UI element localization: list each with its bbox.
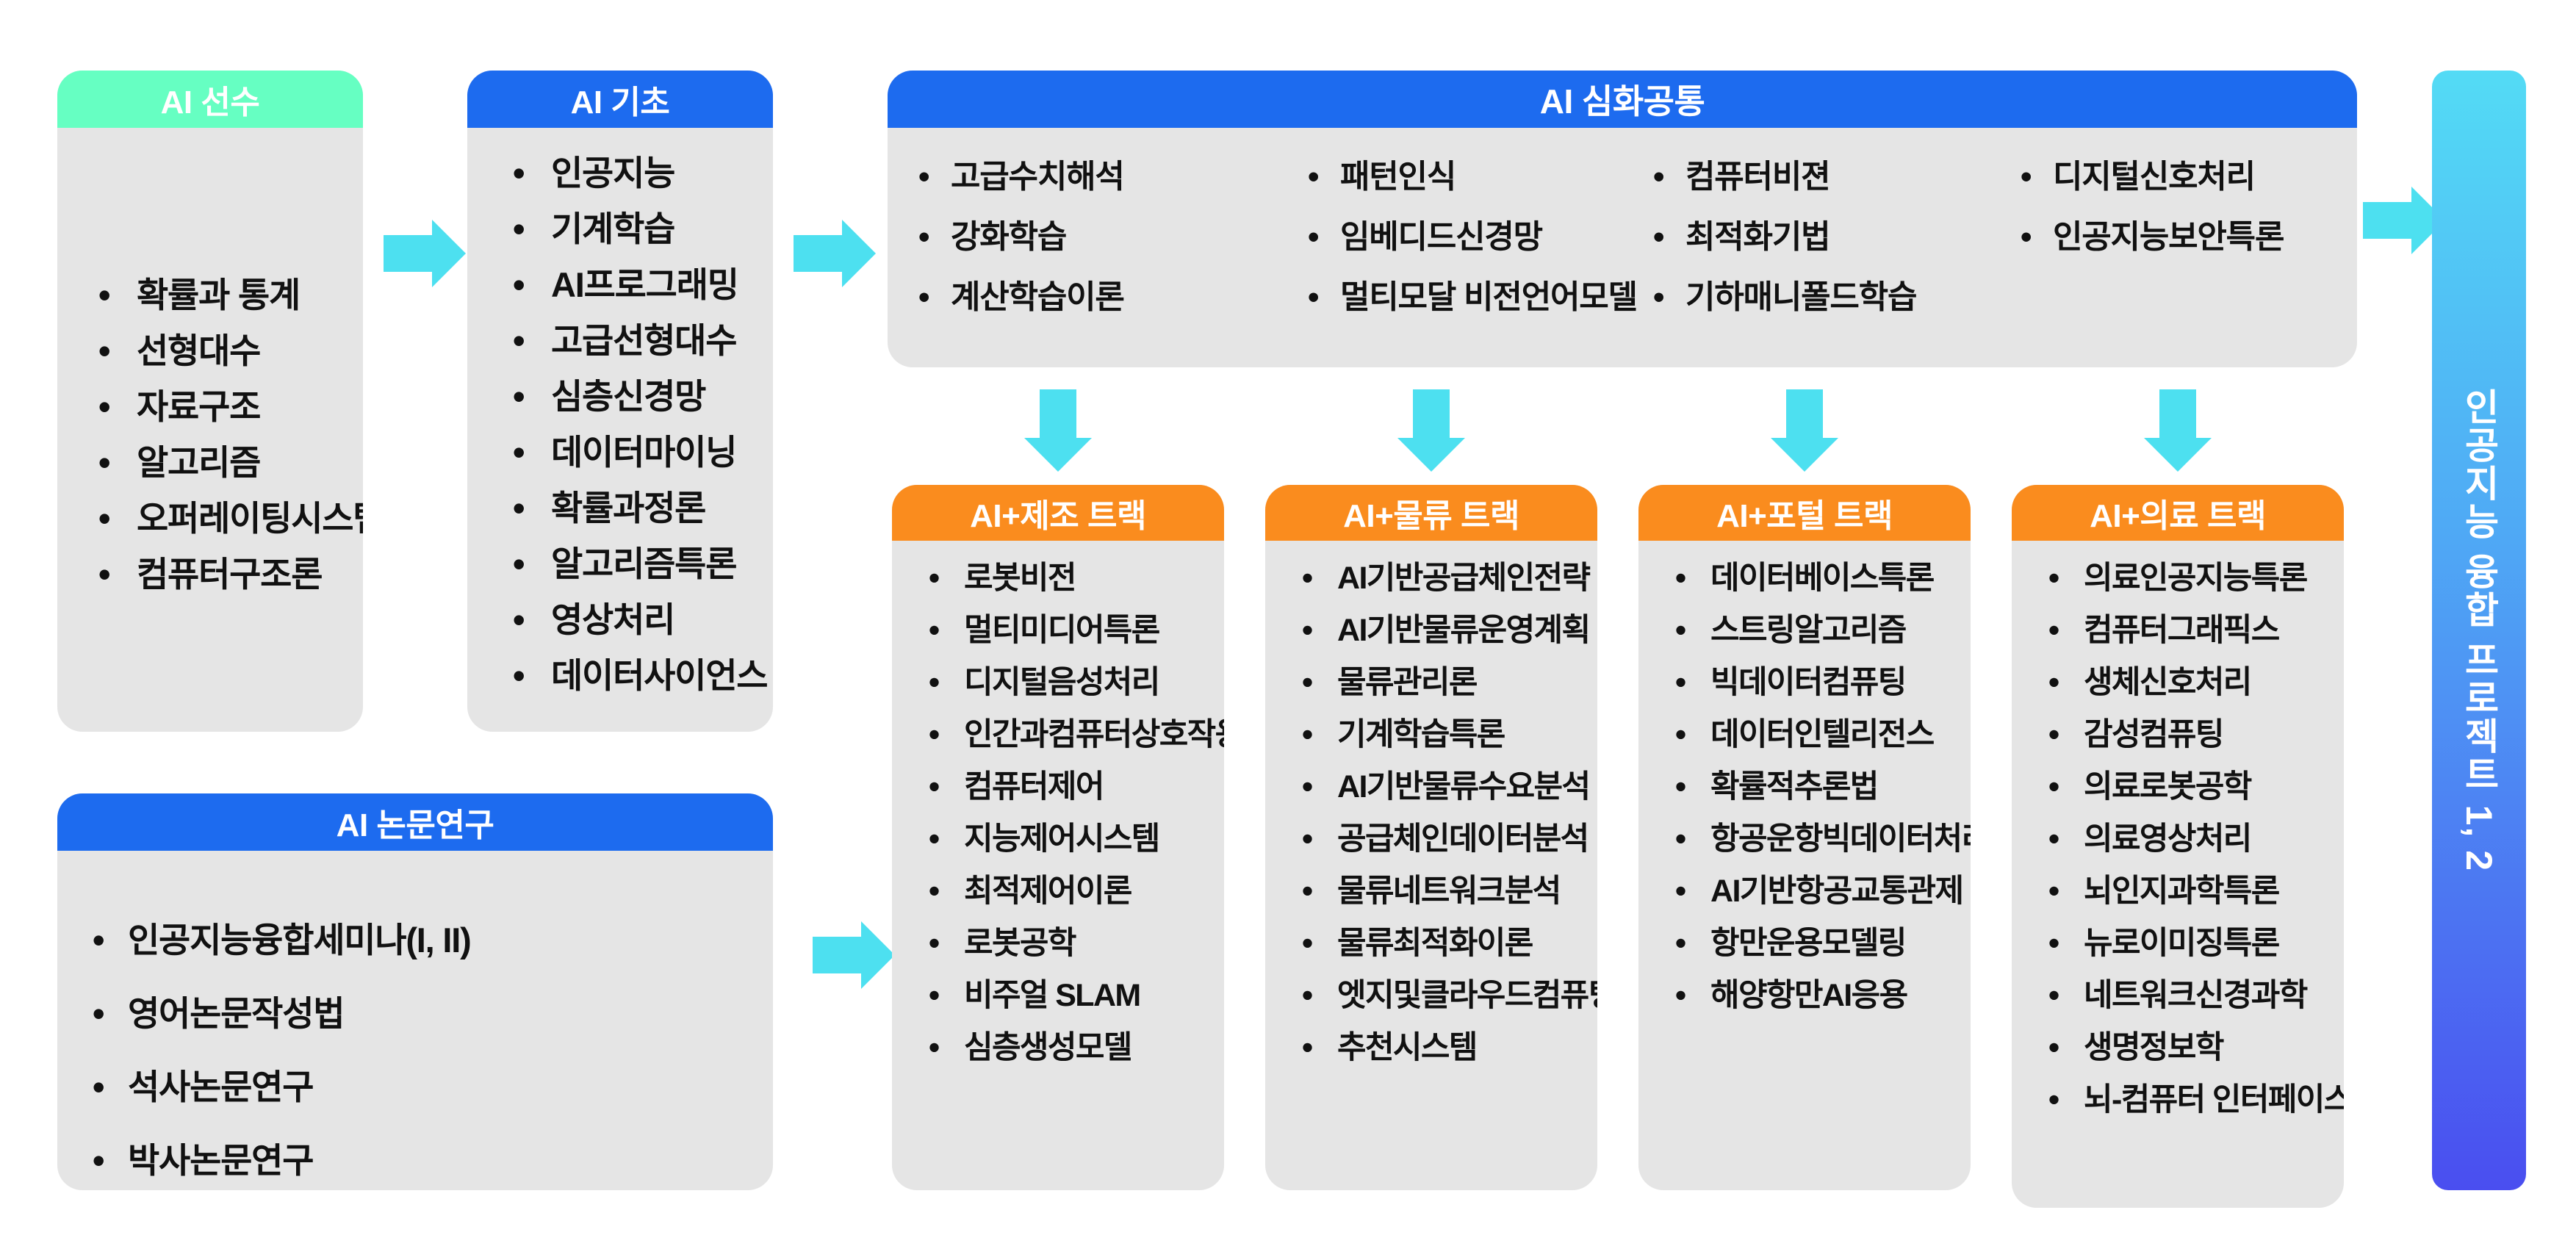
course-list-advanced-col-1: 고급수치해석 강화학습 계산학습이론 xyxy=(888,147,1277,367)
list-item: 데이터마이닝 xyxy=(513,425,767,480)
list-item: 지능제어시스템 xyxy=(929,813,1224,865)
list-item: 패턴인식 xyxy=(1308,147,1622,207)
card-track-portal: AI+포털 트랙 데이터베이스특론 스트링알고리즘 빅데이터컴퓨팅 데이터인텔리… xyxy=(1638,485,1971,1190)
card-ai-advanced-common: AI 심화공통 고급수치해석 강화학습 계산학습이론 패턴인식 임베디드신경망 … xyxy=(888,71,2357,367)
list-item: 심층신경망 xyxy=(513,369,767,425)
card-track-manufacturing: AI+제조 트랙 로봇비전 멀티미디어특론 디지털음성처리 인간과컴퓨터상호작용… xyxy=(892,485,1224,1190)
list-item: AI프로그래밍 xyxy=(513,257,767,313)
list-item: 알고리즘 xyxy=(98,435,363,491)
list-item: AI기반물류운영계획 xyxy=(1302,605,1597,657)
list-item: 뉴로이미징특론 xyxy=(2048,918,2344,970)
card-track-medical: AI+의료 트랙 의료인공지능특론 컴퓨터그래픽스 생체신호처리 감성컴퓨팅 의… xyxy=(2012,485,2344,1208)
course-list-advanced-col-2: 패턴인식 임베디드신경망 멀티모달 비전언어모델 xyxy=(1277,147,1622,367)
list-item: 감성컴퓨팅 xyxy=(2048,709,2344,761)
list-item: 심층생성모델 xyxy=(929,1022,1224,1074)
course-list-advanced-col-4: 디지털신호처리 인공지능보안특론 xyxy=(1990,147,2357,367)
card-title-ai-thesis: AI 논문연구 xyxy=(57,793,773,851)
list-item: 영상처리 xyxy=(513,592,767,648)
course-list-track-manufacturing: 로봇비전 멀티미디어특론 디지털음성처리 인간과컴퓨터상호작용 컴퓨터제어 지능… xyxy=(929,552,1224,1190)
list-item: 디지털음성처리 xyxy=(929,657,1224,709)
list-item: 공급체인데이터분석 xyxy=(1302,813,1597,865)
list-item: AI기반물류수요분석 xyxy=(1302,761,1597,813)
list-item: 기계학습 xyxy=(513,201,767,257)
list-item: 항만운용모델링 xyxy=(1675,918,1971,970)
list-item: 해양항만AI응용 xyxy=(1675,970,1971,1022)
list-item: 기계학습특론 xyxy=(1302,709,1597,761)
list-item: 물류네트워크분석 xyxy=(1302,865,1597,918)
card-ai-prereq: AI 선수 확률과 통계 선형대수 자료구조 알고리즘 오퍼레이팅시스템 컴퓨터… xyxy=(57,71,363,732)
list-item: 생명정보학 xyxy=(2048,1022,2344,1074)
list-item: 인공지능 xyxy=(513,145,767,201)
course-list-ai-thesis: 인공지능융합세미나(I, II) 영어논문작성법 석사논문연구 박사논문연구 xyxy=(93,904,471,1190)
list-item: 뇌-컴퓨터 인터페이스 xyxy=(2048,1074,2344,1126)
card-body-ai-prereq: 확률과 통계 선형대수 자료구조 알고리즘 오퍼레이팅시스템 컴퓨터구조론 xyxy=(57,128,363,732)
list-item: 의료영상처리 xyxy=(2048,813,2344,865)
list-item: 추천시스템 xyxy=(1302,1022,1597,1074)
list-item: 확률과 통계 xyxy=(98,267,363,323)
list-item: 컴퓨터비젼 xyxy=(1653,147,1990,207)
list-item: 기하매니폴드학습 xyxy=(1653,267,1990,328)
list-item: 자료구조 xyxy=(98,379,363,435)
list-item: 의료인공지능특론 xyxy=(2048,552,2344,605)
list-item: 인공지능보안특론 xyxy=(2021,207,2357,267)
list-item: 컴퓨터그래픽스 xyxy=(2048,605,2344,657)
card-body-ai-basic: 인공지능 기계학습 AI프로그래밍 고급선형대수 심층신경망 데이터마이닝 확률… xyxy=(467,128,773,732)
card-title-track-manufacturing: AI+제조 트랙 xyxy=(892,485,1224,541)
list-item: 컴퓨터제어 xyxy=(929,761,1224,813)
list-item: 알고리즘특론 xyxy=(513,536,767,592)
card-title-ai-prereq: AI 선수 xyxy=(57,71,363,128)
list-item: 데이터사이언스 xyxy=(513,648,767,704)
card-body-track-manufacturing: 로봇비전 멀티미디어특론 디지털음성처리 인간과컴퓨터상호작용 컴퓨터제어 지능… xyxy=(892,541,1224,1190)
list-item: 컴퓨터구조론 xyxy=(98,547,363,602)
list-item: 스트링알고리즘 xyxy=(1675,605,1971,657)
list-item: AI기반항공교통관제 xyxy=(1675,865,1971,918)
list-item: 확률적추론법 xyxy=(1675,761,1971,813)
list-item: 생체신호처리 xyxy=(2048,657,2344,709)
card-body-track-portal: 데이터베이스특론 스트링알고리즘 빅데이터컴퓨팅 데이터인텔리전스 확률적추론법… xyxy=(1638,541,1971,1190)
card-body-track-logistics: AI기반공급체인전략 AI기반물류운영계획 물류관리론 기계학습특론 AI기반물… xyxy=(1265,541,1597,1190)
course-list-track-logistics: AI기반공급체인전략 AI기반물류운영계획 물류관리론 기계학습특론 AI기반물… xyxy=(1302,552,1597,1190)
list-item: 디지털신호처리 xyxy=(2021,147,2357,207)
list-item: AI기반공급체인전략 xyxy=(1302,552,1597,605)
list-item: 네트워크신경과학 xyxy=(2048,970,2344,1022)
list-item: 고급선형대수 xyxy=(513,313,767,369)
card-title-track-portal: AI+포털 트랙 xyxy=(1638,485,1971,541)
list-item: 인간과컴퓨터상호작용 xyxy=(929,709,1224,761)
course-list-ai-basic: 인공지능 기계학습 AI프로그래밍 고급선형대수 심층신경망 데이터마이닝 확률… xyxy=(513,145,767,732)
course-list-track-medical: 의료인공지능특론 컴퓨터그래픽스 생체신호처리 감성컴퓨팅 의료로봇공학 의료영… xyxy=(2048,552,2344,1208)
list-item: 영어논문작성법 xyxy=(93,977,471,1051)
card-title-ai-basic: AI 기초 xyxy=(467,71,773,128)
card-title-track-logistics: AI+물류 트랙 xyxy=(1265,485,1597,541)
list-item: 인공지능융합세미나(I, II) xyxy=(93,904,471,977)
card-body-track-medical: 의료인공지능특론 컴퓨터그래픽스 생체신호처리 감성컴퓨팅 의료로봇공학 의료영… xyxy=(2012,541,2344,1208)
capstone-project-label: 인공지능 융합 프로젝트 1, 2 xyxy=(2453,388,2505,872)
list-item: 엣지및클라우드컴퓨팅 xyxy=(1302,970,1597,1022)
list-item: 석사논문연구 xyxy=(93,1051,471,1124)
list-item: 멀티미디어특론 xyxy=(929,605,1224,657)
card-title-ai-advanced-common: AI 심화공통 xyxy=(888,71,2357,128)
list-item: 오퍼레이팅시스템 xyxy=(98,491,363,547)
list-item: 물류관리론 xyxy=(1302,657,1597,709)
list-item: 뇌인지과학특론 xyxy=(2048,865,2344,918)
curriculum-flow-diagram: AI 선수 확률과 통계 선형대수 자료구조 알고리즘 오퍼레이팅시스템 컴퓨터… xyxy=(0,0,2576,1235)
course-list-track-portal: 데이터베이스특론 스트링알고리즘 빅데이터컴퓨팅 데이터인텔리전스 확률적추론법… xyxy=(1675,552,1971,1190)
list-item: 데이터베이스특론 xyxy=(1675,552,1971,605)
list-item: 박사논문연구 xyxy=(93,1124,471,1190)
list-item: 비주얼 SLAM xyxy=(929,970,1224,1022)
course-list-ai-prereq: 확률과 통계 선형대수 자료구조 알고리즘 오퍼레이팅시스템 컴퓨터구조론 xyxy=(98,267,363,732)
capstone-project-bar: 인공지능 융합 프로젝트 1, 2 xyxy=(2432,71,2526,1190)
list-item: 선형대수 xyxy=(98,323,363,379)
list-item: 데이터인텔리전스 xyxy=(1675,709,1971,761)
list-item: 로봇비전 xyxy=(929,552,1224,605)
list-item: 강화학습 xyxy=(918,207,1277,267)
card-title-track-medical: AI+의료 트랙 xyxy=(2012,485,2344,541)
list-item: 최적화기법 xyxy=(1653,207,1990,267)
list-item: 임베디드신경망 xyxy=(1308,207,1622,267)
list-item: 확률과정론 xyxy=(513,480,767,536)
list-item: 멀티모달 비전언어모델 xyxy=(1308,267,1622,328)
card-body-ai-advanced-common: 고급수치해석 강화학습 계산학습이론 패턴인식 임베디드신경망 멀티모달 비전언… xyxy=(888,128,2357,367)
list-item: 로봇공학 xyxy=(929,918,1224,970)
list-item: 물류최적화이론 xyxy=(1302,918,1597,970)
card-ai-thesis: AI 논문연구 인공지능융합세미나(I, II) 영어논문작성법 석사논문연구 … xyxy=(57,793,773,1190)
card-track-logistics: AI+물류 트랙 AI기반공급체인전략 AI기반물류운영계획 물류관리론 기계학… xyxy=(1265,485,1597,1190)
course-list-advanced-col-3: 컴퓨터비젼 최적화기법 기하매니폴드학습 xyxy=(1622,147,1990,367)
list-item: 의료로봇공학 xyxy=(2048,761,2344,813)
list-item: 최적제어이론 xyxy=(929,865,1224,918)
list-item: 고급수치해석 xyxy=(918,147,1277,207)
card-ai-basic: AI 기초 인공지능 기계학습 AI프로그래밍 고급선형대수 심층신경망 데이터… xyxy=(467,71,773,732)
card-body-ai-thesis: 인공지능융합세미나(I, II) 영어논문작성법 석사논문연구 박사논문연구 xyxy=(57,851,773,1190)
list-item: 항공운항빅데이터처리 xyxy=(1675,813,1971,865)
list-item: 빅데이터컴퓨팅 xyxy=(1675,657,1971,709)
list-item: 계산학습이론 xyxy=(918,267,1277,328)
